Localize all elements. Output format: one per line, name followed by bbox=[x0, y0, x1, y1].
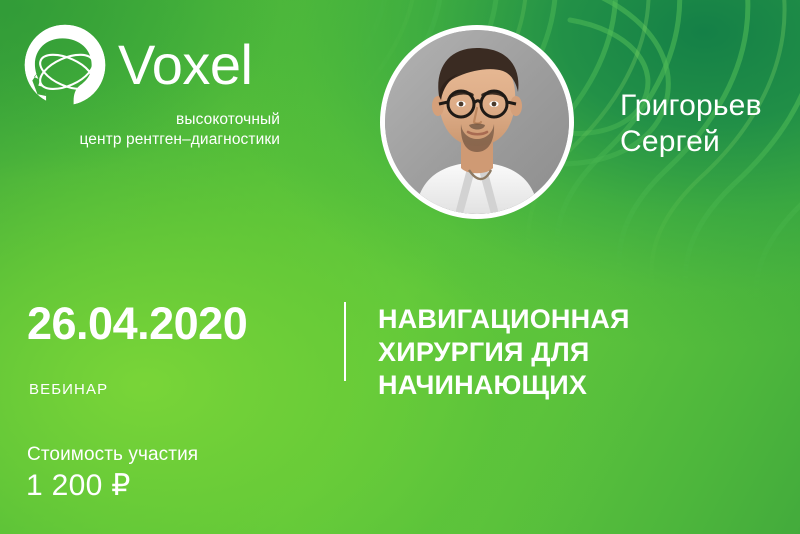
speaker-portrait-photo bbox=[385, 30, 569, 214]
speaker-name: Григорьев Сергей bbox=[620, 88, 762, 160]
price-value: 1 200 ₽ bbox=[26, 468, 131, 504]
webinar-promo-banner: Voxel высокоточный центр рентген–диагнос… bbox=[0, 0, 800, 534]
event-date: 26.04.2020 bbox=[27, 299, 247, 349]
event-format-label: ВЕБИНАР bbox=[29, 381, 108, 399]
logo-row: Voxel bbox=[22, 22, 322, 108]
price-label: Стоимость участия bbox=[27, 443, 198, 467]
logo-tagline-line-1: высокоточный bbox=[22, 110, 280, 130]
vertical-divider bbox=[344, 302, 346, 381]
head-profile-circle-icon bbox=[22, 22, 108, 108]
speaker-avatar bbox=[380, 25, 574, 219]
logo-wordmark: Voxel bbox=[118, 37, 253, 93]
brand-logo-block: Voxel высокоточный центр рентген–диагнос… bbox=[22, 22, 322, 150]
logo-tagline: высокоточный центр рентген–диагностики bbox=[22, 110, 280, 150]
event-title: НАВИГАЦИОННАЯ ХИРУРГИЯ ДЛЯ НАЧИНАЮЩИХ bbox=[378, 303, 708, 402]
logo-tagline-line-2: центр рентген–диагностики bbox=[22, 130, 280, 150]
